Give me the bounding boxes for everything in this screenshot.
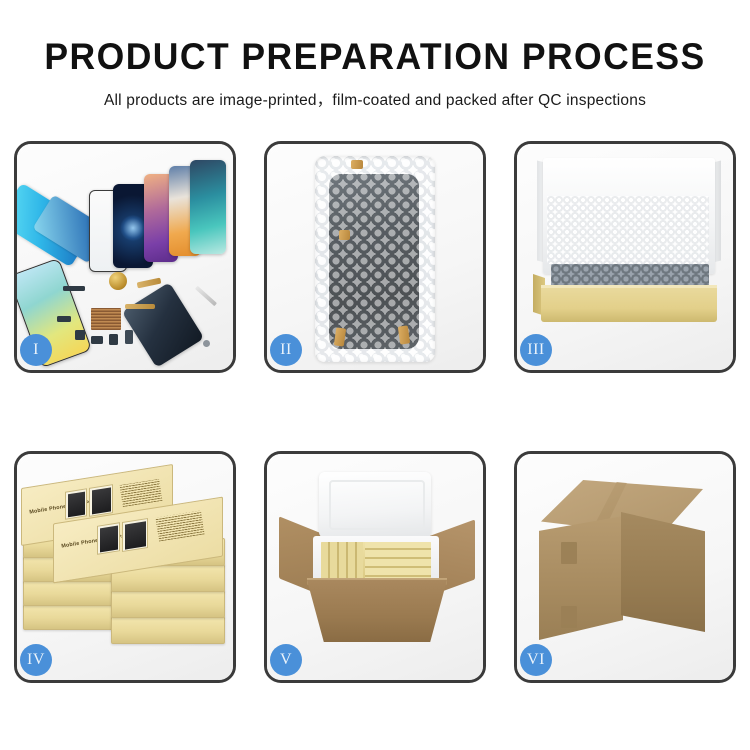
header: PRODUCT PREPARATION PROCESS All products… [0,0,750,110]
process-step-1: I [14,141,236,373]
tape-top-icon [351,160,363,169]
step-2-image [267,144,483,370]
tweezers-icon [195,286,217,306]
yellow-box-front-icon [541,288,717,322]
speaker-part-icon [109,272,127,290]
small-part-a-icon [75,330,85,340]
flex-cable-icon [137,278,162,289]
connector-part-icon [63,286,85,291]
carton-left-face-icon [539,516,623,640]
box-window-front-2 [122,518,148,552]
process-step-grid: I II [14,141,736,683]
step-4-image: Mobile Phone Spare Parts Mobile Phone Sp… [17,454,233,680]
foam-cooler-lid-groove-icon [329,480,425,530]
stacked-box-r4 [111,616,225,644]
carton-right-face-icon [621,512,705,632]
step-badge-1: I [20,334,52,366]
page-title: PRODUCT PREPARATION PROCESS [15,38,735,75]
flex-cable-2-icon [125,304,155,309]
step-badge-6: VI [520,644,552,676]
step-1-image [17,144,233,370]
box-stack-icon: Mobile Phone Spare Parts Mobile Phone Sp… [17,454,233,680]
process-step-3: III [514,141,736,373]
step-badge-4: IV [20,644,52,676]
box-window-front-1 [97,522,120,555]
product-preparation-infographic: PRODUCT PREPARATION PROCESS All products… [0,0,750,750]
small-part-c-icon [109,334,118,345]
small-part-e-icon [203,340,210,347]
carton-tape-lower-icon [561,606,577,628]
lcd-screen-icon [329,174,419,349]
stacked-box-r3 [111,590,225,618]
foam-sheet-icon [547,196,709,264]
process-step-6: VI [514,451,736,683]
page-subtitle: All products are image-printed，film-coat… [0,88,750,110]
phone-teal-icon [190,160,226,254]
box-window-back-1 [65,488,87,519]
stacked-box-l4 [23,604,121,630]
step-badge-5: V [270,644,302,676]
step-badge-3: III [520,334,552,366]
small-part-b-icon [91,336,103,344]
step-3-image [517,144,733,370]
phone-back-housing-icon [122,282,204,368]
tape-mid-icon [339,230,350,240]
box-window-back-2 [89,484,113,517]
process-step-2: II [264,141,486,373]
carton-tape-upper-icon [561,542,577,564]
battery-part-icon [125,330,133,344]
process-step-4: Mobile Phone Spare Parts Mobile Phone Sp… [14,451,236,683]
phone-parts-collage-icon [17,144,233,370]
stacked-box-l3 [23,580,121,606]
process-step-5: V [264,451,486,683]
small-part-d-icon [57,316,71,322]
step-6-image [517,454,733,680]
carton-front-icon [307,580,447,642]
step-badge-2: II [270,334,302,366]
step-5-image [267,454,483,680]
chip-part-icon [91,308,121,330]
